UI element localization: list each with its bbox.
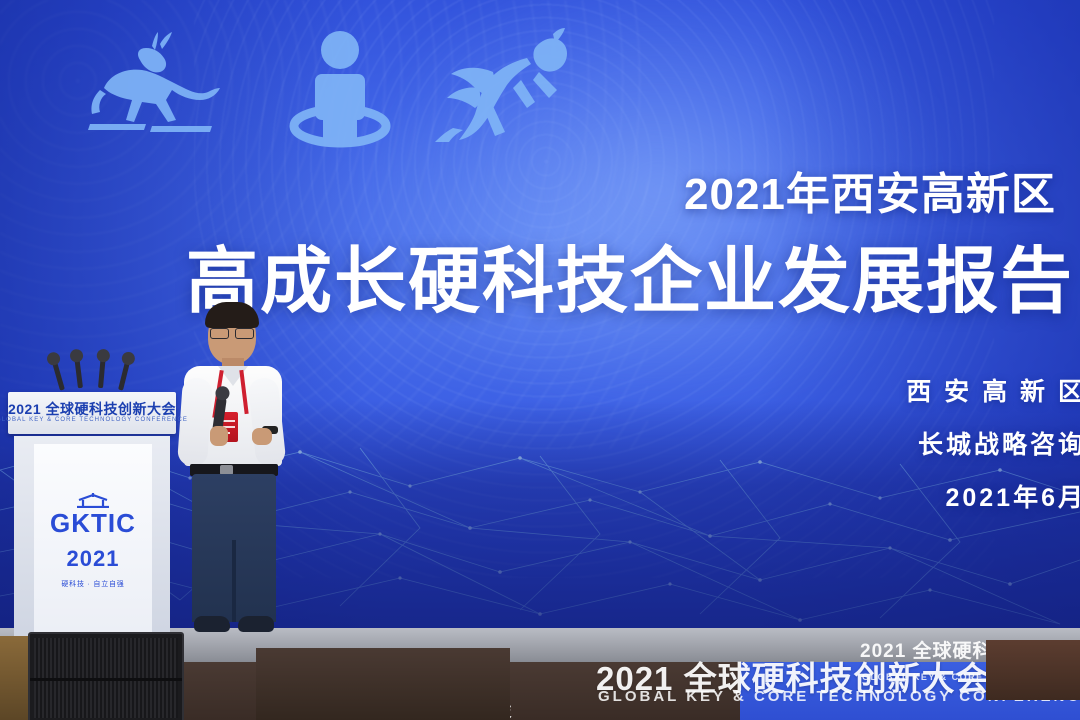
logo-mark-text: GKTIC: [38, 510, 148, 536]
podium-header-plate: 2021 全球硬科技创新大会 GLOBAL KEY & CORE TECHNOL…: [8, 392, 176, 434]
speaker-right-shoe: [238, 616, 274, 632]
glasses-icon: [210, 328, 254, 337]
speaker-hand-holding-mic: [210, 426, 228, 446]
speaker-person: [170, 300, 302, 638]
podium: 2021 全球硬科技创新大会 GLOBAL KEY & CORE TECHNOL…: [8, 392, 176, 640]
conference-logo: GKTIC 2021 硬科技 · 自立自强: [38, 492, 148, 589]
pagoda-icon: [57, 492, 129, 508]
person-in-ring-icon: [275, 24, 405, 154]
speaker-divider: [30, 678, 182, 681]
speaker-hair: [205, 302, 259, 328]
podium-header-cn: 2021 全球硬科技创新大会: [8, 399, 176, 419]
logo-tagline-text: 硬科技 · 自立自强: [38, 579, 148, 589]
gazelle-icon: [80, 30, 230, 140]
screen-icon-row: [60, 14, 580, 154]
podium-header-en: GLOBAL KEY & CORE TECHNOLOGY CONFERENCE: [0, 417, 188, 423]
speaker-left-shoe: [194, 616, 230, 632]
screen-subtitle: 2021年西安高新区: [684, 158, 1056, 222]
attribution-line-2: 长城战略咨询: [906, 425, 1080, 461]
attribution-line-1: 西 安 高 新 区: [906, 372, 1080, 408]
attribution-line-3: 2021年6月: [906, 478, 1080, 514]
screen-attribution: 西 安 高 新 区 长城战略咨询 2021年6月: [906, 372, 1080, 531]
stage-right-panel: [986, 640, 1080, 700]
podium-front-panel: GKTIC 2021 硬科技 · 自立自强: [34, 444, 152, 632]
microphone-2-icon: [74, 358, 83, 388]
stage-floor-box: [256, 648, 510, 720]
conference-stage-photo: 2021年西安高新区 高成长硬科技企业发展报告 西 安 高 新 区 长城战略咨询…: [0, 0, 1080, 720]
podium-microphones: [56, 348, 146, 394]
screen-main-title: 高成长硬科技企业发展报告: [186, 222, 1074, 327]
line-array-speaker: [28, 632, 184, 720]
trouser-leg-gap: [232, 540, 236, 622]
microphone-4-icon: [118, 360, 130, 390]
podium-body: GKTIC 2021 硬科技 · 自立自强: [14, 436, 170, 640]
microphone-3-icon: [98, 358, 106, 388]
stage-side-trim: [0, 636, 30, 720]
speaker-hand-holding-clicker: [252, 428, 272, 445]
pegasus-unicorn-icon: [435, 28, 585, 143]
logo-year-text: 2021: [38, 546, 148, 572]
